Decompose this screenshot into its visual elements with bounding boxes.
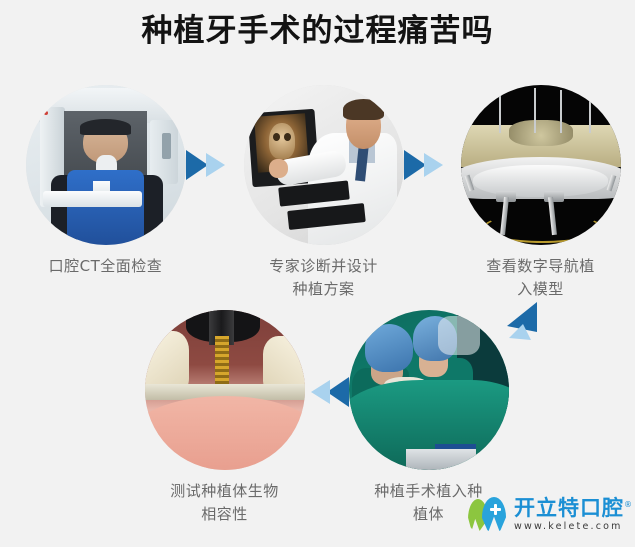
step-1-caption-line: 口腔CT全面检查 xyxy=(18,255,193,278)
brand-logo[interactable]: 开立特口腔 ® www.kelete.com xyxy=(468,495,624,535)
step-2-expert-diagnosis: 专家诊断并设计 种植方案 xyxy=(236,85,411,301)
instrument-tray xyxy=(406,449,476,470)
implant-surgery-photo xyxy=(349,310,509,470)
step-2-caption-line-1: 专家诊断并设计 xyxy=(236,255,411,278)
guide-pin-2 xyxy=(534,88,536,133)
gum-model-highlight xyxy=(473,165,607,197)
step-4-biocompatibility: 测试种植体生物 相容性 xyxy=(137,310,312,526)
step-3-caption-line-1: 查看数字导航植 xyxy=(453,255,628,278)
step-5-implant-surgery: 种植手术植入种 植体 xyxy=(341,310,516,526)
oral-ct-scan-photo xyxy=(26,85,186,245)
double-chevron-right-icon xyxy=(404,148,444,182)
surgeon-1-surgical-cap xyxy=(365,324,413,372)
step-3-caption: 查看数字导航植 入模型 xyxy=(453,255,628,301)
measurement-arch xyxy=(483,213,602,243)
skull-shape xyxy=(269,123,295,158)
step-4-caption: 测试种植体生物 相容性 xyxy=(137,480,312,526)
patient-head-strap xyxy=(80,119,131,135)
guide-pin-4 xyxy=(589,93,591,133)
step-4-caption-line-1: 测试种植体生物 xyxy=(137,480,312,503)
step-2-caption: 专家诊断并设计 种植方案 xyxy=(236,255,411,301)
ct-indicator-light xyxy=(44,111,48,115)
logo-brand-name-wrap: 开立特口腔 ® xyxy=(514,497,624,519)
guide-plate-2 xyxy=(544,191,565,202)
implant-screw xyxy=(215,336,229,387)
lower-gum-tissue xyxy=(145,396,305,470)
doctor-pointing-hand xyxy=(269,159,288,178)
ct-sensor-slot xyxy=(162,133,172,159)
logo-text-block: 开立特口腔 ® www.kelete.com xyxy=(514,497,624,533)
step-2-caption-line-2: 种植方案 xyxy=(236,278,411,301)
arrow-step2-to-step3 xyxy=(404,148,444,182)
double-chevron-right-icon xyxy=(186,148,226,182)
logo-website-url: www.kelete.com xyxy=(514,520,624,533)
guide-pin-1 xyxy=(499,91,501,133)
bone-center-mass xyxy=(509,120,573,146)
page-title: 种植牙手术的过程痛苦吗 xyxy=(0,8,635,54)
step-1-caption: 口腔CT全面检查 xyxy=(18,255,193,278)
infographic-root: 种植牙手术的过程痛苦吗 口腔CT全面检查 xyxy=(0,0,635,547)
guide-pin-3 xyxy=(560,90,562,133)
doctor-hair xyxy=(343,99,385,120)
registered-trademark-icon: ® xyxy=(624,494,633,516)
arrow-step1-to-step2 xyxy=(186,148,226,182)
ct-chin-bar xyxy=(43,191,142,207)
logo-brand-name: 开立特口腔 xyxy=(514,496,624,520)
face-shield xyxy=(438,316,480,354)
medical-cross-icon-horizontal xyxy=(490,508,501,511)
implant-biocompatibility-photo xyxy=(145,310,305,470)
step-1-oral-ct: 口腔CT全面检查 xyxy=(18,85,193,278)
expert-diagnosis-photo xyxy=(244,85,404,245)
step-4-caption-line-2: 相容性 xyxy=(137,503,312,526)
digital-navigation-model-photo xyxy=(461,85,621,245)
step-3-digital-model: 查看数字导航植 入模型 xyxy=(453,85,628,301)
tooth-logo-icon xyxy=(468,495,510,535)
